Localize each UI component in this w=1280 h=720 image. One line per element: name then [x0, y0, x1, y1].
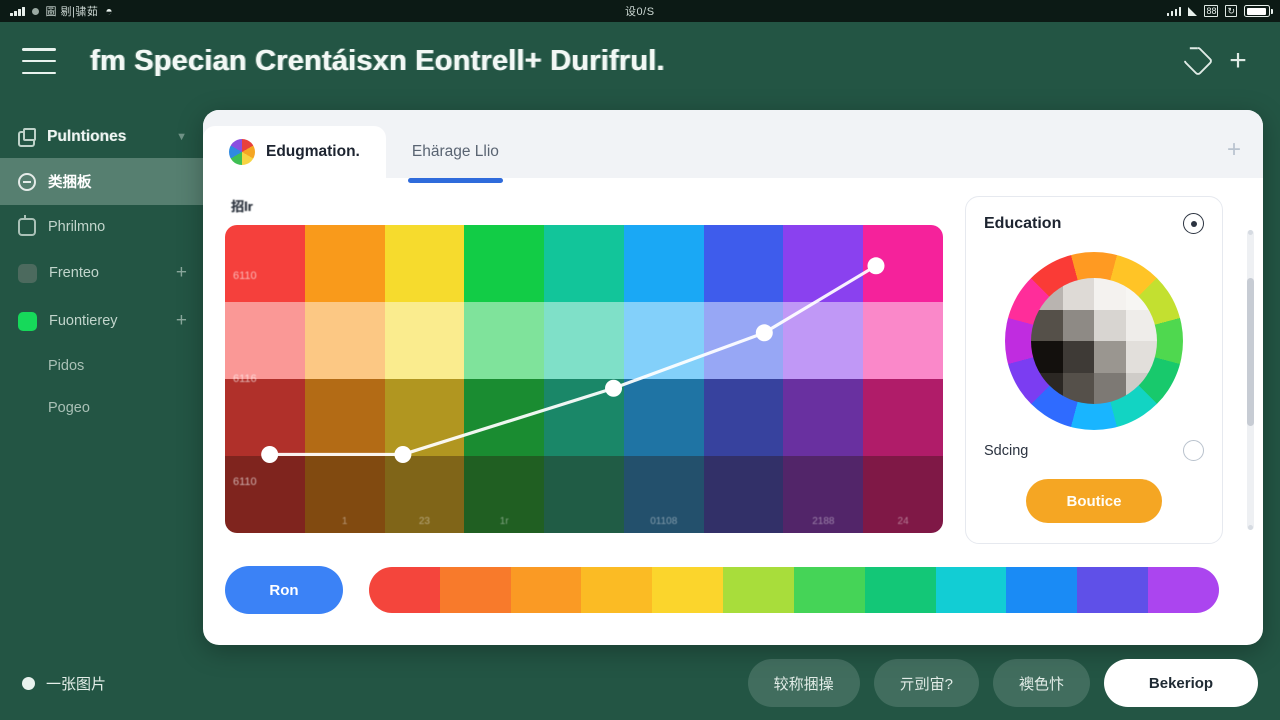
footer-button-primary[interactable]: Bekeriop: [1104, 659, 1258, 707]
data-point[interactable]: [261, 446, 278, 463]
grayscale-cell: [1063, 373, 1095, 405]
boutice-button[interactable]: Boutice: [1026, 479, 1162, 523]
sync-icon: ↻: [1225, 5, 1237, 17]
palette-swatch[interactable]: [936, 567, 1007, 613]
plus-icon: +: [1229, 46, 1247, 76]
footer-button-2[interactable]: 亓剅宙?: [874, 659, 979, 707]
main-card: Edugmation. Ehärage Llio + 招lr 611061166…: [203, 110, 1263, 645]
sidebar-item-label: Pidos: [48, 358, 84, 374]
card-bottom-row: Ron: [203, 544, 1263, 614]
status-dot-icon: [32, 8, 39, 15]
app-root: 圖 剔|骕茹 ◓ 设0/S 88 ↻ fm Specian Crentáisxn…: [0, 0, 1280, 720]
swatch-grey-icon: [18, 264, 37, 283]
scrollbar-cap-bottom: [1248, 525, 1253, 530]
palette-swatch[interactable]: [652, 567, 723, 613]
hamburger-menu-icon[interactable]: [22, 48, 56, 74]
sidebar-item-frenteo[interactable]: Frenteo +: [0, 249, 203, 297]
sidebar-item-phrilmno[interactable]: Phrilmno: [0, 205, 203, 249]
palette-swatch[interactable]: [440, 567, 511, 613]
circle-minus-icon: [18, 173, 36, 191]
panel-title: Education: [984, 215, 1061, 233]
education-panel: Education Sdcing Boutice: [965, 196, 1223, 544]
page-title: fm Specian Crentáisxn Eontrell+ Durifrul…: [90, 45, 665, 78]
vertical-scrollbar[interactable]: [1247, 230, 1254, 530]
scrollbar-cap-top: [1248, 230, 1253, 235]
tab-eharage-llio[interactable]: Ehärage Llio: [386, 126, 525, 178]
signal-bars-icon: [10, 6, 25, 16]
tab-bar: Edugmation. Ehärage Llio +: [203, 110, 1263, 178]
grayscale-grid: [1031, 278, 1157, 404]
palette-swatch[interactable]: [1077, 567, 1148, 613]
color-wheel-logo-icon: [229, 139, 255, 165]
footer-bar: 一张图片 较称捆操 亓剅宙? 襖色忭 Bekeriop: [0, 646, 1280, 720]
grayscale-cell: [1094, 278, 1126, 310]
grayscale-cell: [1031, 341, 1063, 373]
refresh-icon: [1182, 45, 1213, 76]
sidebar-item-dashboard[interactable]: 类捆板: [0, 158, 203, 205]
app-header: fm Specian Crentáisxn Eontrell+ Durifrul…: [0, 22, 1280, 100]
grayscale-cell: [1063, 341, 1095, 373]
sidebar-item-pidos[interactable]: Pidos: [0, 345, 203, 387]
chart-section: 招lr 611061166110 1231r01108218824: [225, 196, 945, 544]
signal-triangle-icon: [1188, 7, 1197, 16]
status-left-text: 圖 剔|骕茹: [46, 3, 99, 19]
tab-label: Edugmation.: [266, 143, 360, 161]
panel-sub-label: Sdcing: [984, 443, 1028, 459]
chevron-down-icon: ▼: [176, 131, 187, 143]
data-point[interactable]: [867, 257, 884, 274]
add-tab-button[interactable]: +: [1227, 136, 1241, 164]
run-button[interactable]: Ron: [225, 566, 343, 614]
data-point[interactable]: [394, 446, 411, 463]
palette-swatch[interactable]: [865, 567, 936, 613]
sidebar: Pulntiones ▼ 类捆板 Phrilmno Frenteo + Fuon…: [0, 100, 203, 720]
unselected-radio-icon[interactable]: [1183, 440, 1204, 461]
add-button[interactable]: +: [1218, 41, 1258, 81]
grayscale-cell: [1094, 373, 1126, 405]
panel-sub-row: Sdcing: [984, 440, 1204, 461]
grayscale-cell: [1126, 373, 1158, 405]
line-path: [270, 266, 876, 455]
sidebar-item-label: Phrilmno: [48, 219, 105, 235]
sidebar-item-pogeo[interactable]: Pogeo: [0, 387, 203, 429]
selected-radio-icon[interactable]: [1183, 213, 1204, 234]
panel-header: Education: [984, 213, 1204, 234]
line-series-overlay: [225, 225, 943, 533]
grayscale-cell: [1031, 278, 1063, 310]
grayscale-cell: [1126, 278, 1158, 310]
grayscale-cell: [1063, 310, 1095, 342]
footer-status-label: 一张图片: [46, 673, 106, 694]
sidebar-item-fuontierey[interactable]: Fuontierey +: [0, 297, 203, 345]
tab-education[interactable]: Edugmation.: [203, 126, 386, 178]
sidebar-item-label: Pogeo: [48, 400, 90, 416]
grayscale-cell: [1094, 341, 1126, 373]
palette-swatch[interactable]: [1148, 567, 1219, 613]
swatch-green-icon: [18, 312, 37, 331]
footer-button-3[interactable]: 襖色忭: [993, 659, 1090, 707]
layers-icon: [18, 128, 36, 146]
palette-swatch[interactable]: [723, 567, 794, 613]
footer-status: 一张图片: [22, 673, 106, 694]
palette-swatch[interactable]: [1006, 567, 1077, 613]
grayscale-cell: [1031, 373, 1063, 405]
grayscale-cell: [1031, 310, 1063, 342]
scrollbar-thumb[interactable]: [1247, 278, 1254, 426]
color-wheel-icon[interactable]: [1005, 252, 1183, 430]
card-body: 招lr 611061166110 1231r01108218824 Educat…: [203, 178, 1263, 544]
footer-buttons: 较称捆操 亓剅宙? 襖色忭 Bekeriop: [748, 659, 1258, 707]
sidebar-item-label: Fuontierey: [49, 313, 118, 329]
sidebar-section-header[interactable]: Pulntiones ▼: [0, 100, 203, 158]
heatmap-line-chart[interactable]: 611061166110 1231r01108218824: [225, 225, 943, 533]
status-bar-left: 圖 剔|骕茹 ◓: [10, 3, 113, 19]
palette-swatch[interactable]: [581, 567, 652, 613]
data-point[interactable]: [605, 380, 622, 397]
wifi-icon: ◓: [105, 5, 112, 17]
status-bar: 圖 剔|骕茹 ◓ 设0/S 88 ↻: [0, 0, 1280, 22]
tab-label: Ehärage Llio: [412, 143, 499, 161]
footer-button-1[interactable]: 较称捆操: [748, 659, 860, 707]
palette-swatch[interactable]: [511, 567, 582, 613]
palette-swatch[interactable]: [369, 567, 440, 613]
sidebar-item-label: 类捆板: [48, 171, 92, 192]
status-center-text: 设0/S: [625, 3, 655, 19]
grayscale-cell: [1126, 341, 1158, 373]
palette-strip[interactable]: [369, 567, 1219, 613]
data-point[interactable]: [756, 324, 773, 341]
sidebar-item-label: Frenteo: [49, 265, 99, 281]
grayscale-cell: [1126, 310, 1158, 342]
sim-card-icon: 88: [1204, 5, 1218, 17]
chart-title: 招lr: [231, 196, 945, 215]
plus-icon[interactable]: +: [176, 310, 187, 332]
plus-icon[interactable]: +: [176, 262, 187, 284]
signal-bars-icon: [1167, 6, 1182, 16]
refresh-button[interactable]: [1178, 41, 1218, 81]
palette-swatch[interactable]: [794, 567, 865, 613]
grayscale-cell: [1094, 310, 1126, 342]
grayscale-cell: [1063, 278, 1095, 310]
sidebar-section-label: Pulntiones: [47, 128, 126, 146]
status-bar-right: 88 ↻: [1167, 5, 1270, 17]
copy-icon: [18, 218, 36, 236]
tab-active-underline: [408, 178, 503, 183]
status-dot-icon: [22, 677, 35, 690]
battery-icon: [1244, 5, 1270, 17]
